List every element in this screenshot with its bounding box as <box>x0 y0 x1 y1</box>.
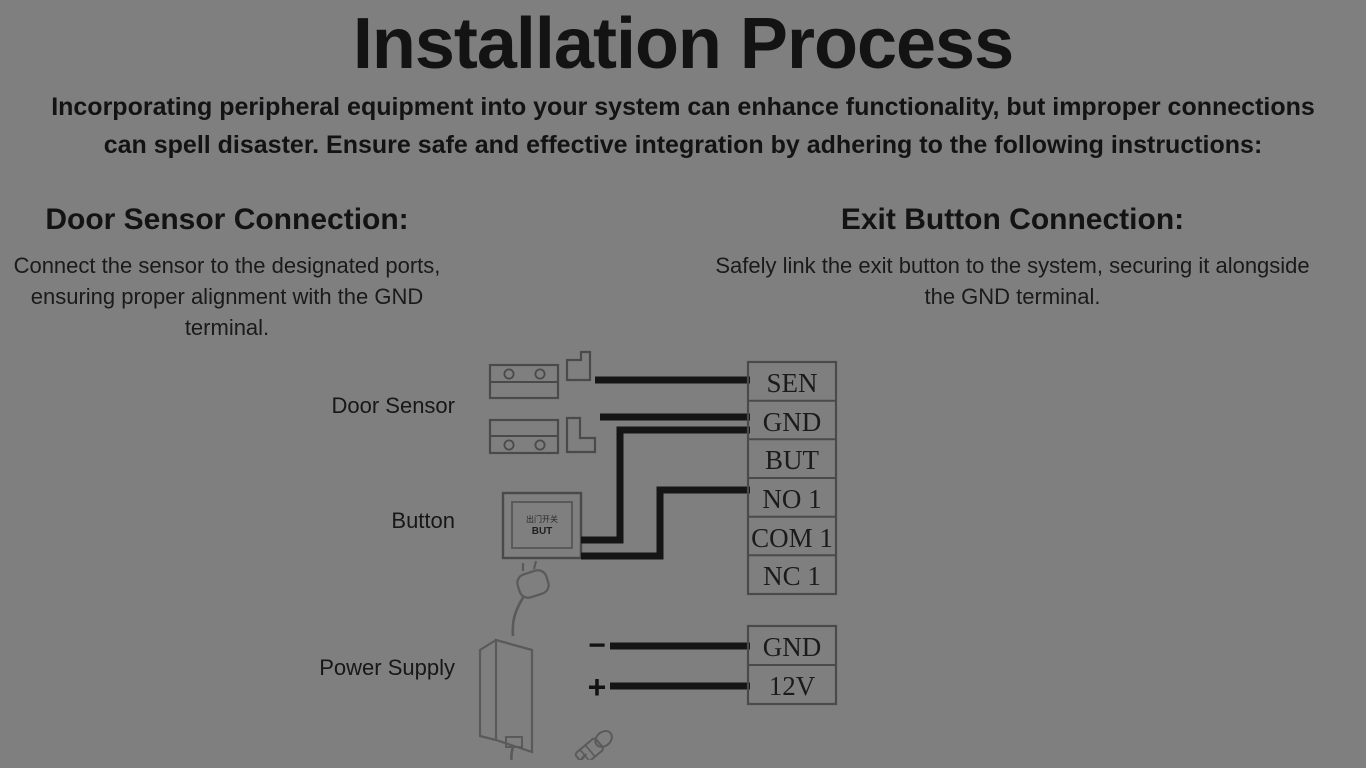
section-door-sensor: Door Sensor Connection: Connect the sens… <box>0 200 462 343</box>
diagram-label-power-supply: Power Supply <box>319 655 455 680</box>
section-heading-exit-button: Exit Button Connection: <box>700 200 1325 240</box>
terminal-label-gnd: GND <box>763 407 822 437</box>
wire-button-to-but <box>581 490 750 556</box>
exit-button-chinese-label: 出门开关 <box>526 514 558 524</box>
door-sensor-bracket-upper <box>567 352 590 380</box>
diagram-label-button: Button <box>391 508 455 533</box>
power-terminal-label-gnd: GND <box>763 632 822 662</box>
power-negative-sign: − <box>588 629 606 662</box>
terminal-label-but: BUT <box>765 445 820 475</box>
door-sensor-body-lower <box>490 420 558 453</box>
terminal-label-no1: NO 1 <box>762 484 821 514</box>
terminal-label-com1: COM 1 <box>751 523 833 553</box>
terminal-block-power: GND 12V <box>748 626 836 704</box>
terminal-label-nc1: NC 1 <box>763 561 821 591</box>
section-heading-door-sensor: Door Sensor Connection: <box>0 200 462 240</box>
section-body-exit-button: Safely link the exit button to the syste… <box>700 250 1325 312</box>
power-terminal-label-12v: 12V <box>769 671 816 701</box>
terminal-label-sen: SEN <box>766 368 817 398</box>
section-body-door-sensor: Connect the sensor to the designated por… <box>0 250 462 343</box>
door-sensor-body-upper <box>490 365 558 398</box>
page-title: Installation Process <box>0 2 1366 86</box>
wire-button-to-gnd <box>581 430 750 540</box>
section-exit-button: Exit Button Connection: Safely link the … <box>700 200 1325 312</box>
power-positive-sign: + <box>588 669 607 705</box>
page-subtitle: Incorporating peripheral equipment into … <box>30 88 1336 164</box>
wiring-diagram: Door Sensor Button Power Supply <box>300 340 880 760</box>
diagram-label-door-sensor: Door Sensor <box>331 393 455 418</box>
exit-button-device: 出门开关 BUT <box>503 493 581 558</box>
slide-root: Installation Process Incorporating perip… <box>0 0 1366 768</box>
door-sensor-bracket-lower <box>567 418 595 452</box>
terminal-block-main: SEN GND BUT NO 1 COM 1 NC 1 <box>748 362 836 594</box>
exit-button-code-label: BUT <box>532 526 553 537</box>
